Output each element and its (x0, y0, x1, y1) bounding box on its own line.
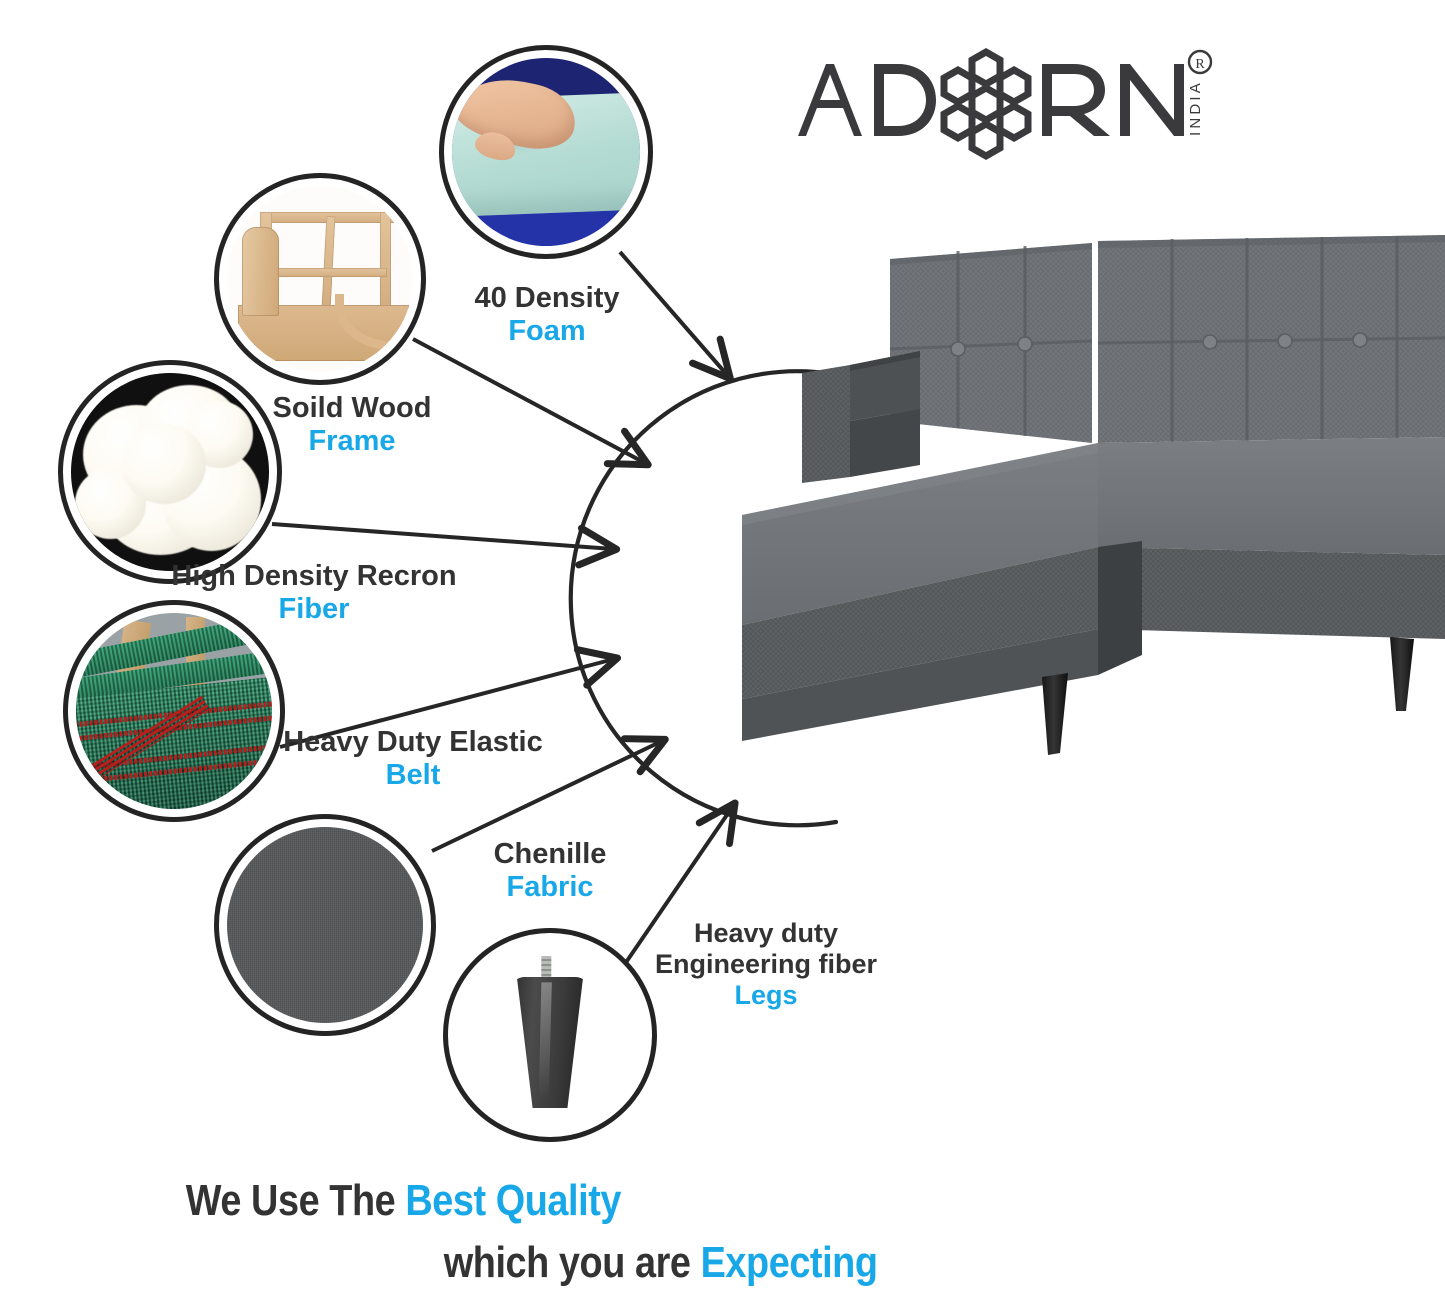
feature-title-fiber: High Density Recron (171, 560, 456, 592)
feature-title-legs-line2: Engineering fiber (642, 949, 890, 980)
feature-title-frame: Soild Wood (273, 392, 432, 424)
feature-accent-fabric: Fabric (460, 871, 640, 904)
svg-text:R: R (1195, 57, 1205, 72)
feature-bubble-frame (214, 173, 426, 385)
feature-title-fabric: Chenille (494, 838, 607, 870)
green-elastic-webbing-photo (76, 613, 272, 809)
feature-bubble-fiber (58, 360, 282, 584)
feature-bubble-foam (439, 45, 653, 259)
tagline: We Use The Best Quality which you are Ex… (0, 1176, 1445, 1288)
feature-label-foam: 40 Density Foam (447, 282, 647, 348)
feature-label-legs: Heavy duty Engineering fiber Legs (642, 918, 890, 1010)
black-tapered-sofa-leg-photo (456, 941, 644, 1129)
tagline-line2-accent: Expecting (701, 1238, 878, 1287)
feature-bubble-legs (443, 928, 657, 1142)
wooden-sofa-frame-photo (227, 186, 413, 372)
hand-pressing-foam-photo (452, 58, 640, 246)
tagline-line1-plain: We Use The (186, 1176, 406, 1225)
feature-accent-belt: Belt (268, 759, 558, 792)
tagline-line-1: We Use The Best Quality (0, 1176, 1243, 1226)
tagline-line2-plain: which you are (444, 1238, 701, 1287)
feature-label-belt: Heavy Duty Elastic Belt (268, 726, 558, 792)
feature-title-belt: Heavy Duty Elastic (283, 726, 543, 758)
infographic-canvas: INDIA R (0, 0, 1445, 1314)
feature-title-foam: 40 Density (474, 282, 619, 314)
feature-accent-legs: Legs (642, 980, 890, 1011)
feature-title-legs-line1: Heavy duty (642, 918, 890, 949)
adorn-india-logo: INDIA R (786, 44, 1216, 164)
feature-label-fabric: Chenille Fabric (460, 838, 640, 904)
svg-text:INDIA: INDIA (1187, 80, 1204, 136)
sofa-product-illustration (742, 225, 1445, 805)
tagline-line1-accent: Best Quality (405, 1176, 621, 1225)
honeycomb-icon (944, 52, 1028, 156)
arrow-fiber (272, 524, 613, 549)
recron-fiber-fill-photo (71, 373, 269, 571)
feature-accent-foam: Foam (447, 315, 647, 348)
grey-chenille-fabric-swatch (227, 827, 423, 1023)
tagline-line-2: which you are Expecting (0, 1238, 1243, 1288)
feature-bubble-fabric (214, 814, 436, 1036)
feature-bubble-belt (63, 600, 285, 822)
